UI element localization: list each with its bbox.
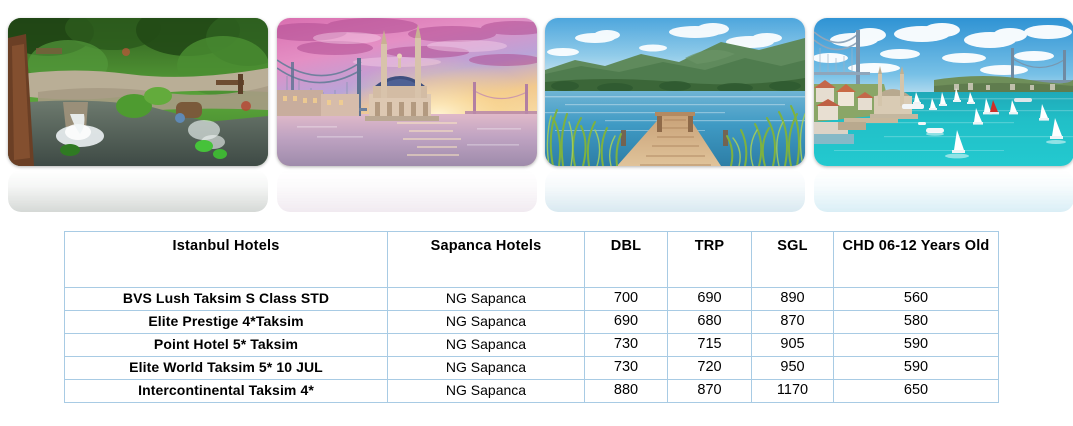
table-row: BVS Lush Taksim S Class STD NG Sapanca 7… bbox=[65, 288, 999, 311]
column-header-sapanca-hotels: Sapanca Hotels bbox=[388, 232, 585, 288]
column-header-chd: CHD 06-12 Years Old bbox=[834, 232, 999, 288]
photo-bosphorus-reflection bbox=[814, 170, 1073, 212]
column-header-sgl: SGL bbox=[752, 232, 834, 288]
photo-card-bosphorus-sailboats bbox=[814, 18, 1066, 200]
photo-sapanca-scene bbox=[545, 18, 805, 166]
cell-sapanca-hotel: NG Sapanca bbox=[388, 380, 585, 403]
cell-sapanca-hotel: NG Sapanca bbox=[388, 334, 585, 357]
cell-chd: 560 bbox=[834, 288, 999, 311]
cell-dbl: 690 bbox=[585, 311, 668, 334]
cell-sapanca-hotel: NG Sapanca bbox=[388, 311, 585, 334]
cell-sgl: 890 bbox=[752, 288, 834, 311]
cell-dbl: 880 bbox=[585, 380, 668, 403]
cell-istanbul-hotel: Elite World Taksim 5* 10 JUL bbox=[65, 357, 388, 380]
reflection-scene bbox=[8, 170, 268, 212]
hotel-rate-table: Istanbul Hotels Sapanca Hotels DBL TRP S… bbox=[64, 231, 999, 403]
reflection-scene bbox=[277, 170, 537, 212]
cell-chd: 650 bbox=[834, 380, 999, 403]
photo-ortakoy-reflection bbox=[277, 170, 537, 212]
photo-card-sapanca-lake-pier bbox=[545, 18, 797, 200]
photo-bosphorus-sailboats bbox=[814, 18, 1073, 166]
table-header-row: Istanbul Hotels Sapanca Hotels DBL TRP S… bbox=[65, 232, 999, 288]
destination-photo-strip bbox=[8, 18, 1065, 200]
column-header-dbl: DBL bbox=[585, 232, 668, 288]
table-row: Point Hotel 5* Taksim NG Sapanca 730 715… bbox=[65, 334, 999, 357]
photo-ortakoy-mosque-sunset bbox=[277, 18, 537, 166]
column-header-trp: TRP bbox=[668, 232, 752, 288]
table-row: Elite World Taksim 5* 10 JUL NG Sapanca … bbox=[65, 357, 999, 380]
column-header-istanbul-hotels: Istanbul Hotels bbox=[65, 232, 388, 288]
reflection-scene bbox=[545, 170, 805, 212]
table-header: Istanbul Hotels Sapanca Hotels DBL TRP S… bbox=[65, 232, 999, 288]
cell-dbl: 700 bbox=[585, 288, 668, 311]
cell-istanbul-hotel: Elite Prestige 4*Taksim bbox=[65, 311, 388, 334]
cell-chd: 590 bbox=[834, 357, 999, 380]
cell-istanbul-hotel: Intercontinental Taksim 4* bbox=[65, 380, 388, 403]
photo-sapanca-lake-pier bbox=[545, 18, 805, 166]
photo-sapanca-reflection bbox=[545, 170, 805, 212]
cell-istanbul-hotel: Point Hotel 5* Taksim bbox=[65, 334, 388, 357]
cell-sgl: 950 bbox=[752, 357, 834, 380]
cell-sapanca-hotel: NG Sapanca bbox=[388, 288, 585, 311]
cell-chd: 590 bbox=[834, 334, 999, 357]
cell-trp: 715 bbox=[668, 334, 752, 357]
cell-trp: 680 bbox=[668, 311, 752, 334]
cell-sgl: 1170 bbox=[752, 380, 834, 403]
reflection-scene bbox=[814, 170, 1073, 212]
table-row: Elite Prestige 4*Taksim NG Sapanca 690 6… bbox=[65, 311, 999, 334]
cell-sgl: 870 bbox=[752, 311, 834, 334]
cell-trp: 720 bbox=[668, 357, 752, 380]
photo-ortakoy-scene bbox=[277, 18, 537, 166]
photo-card-ortakoy-mosque-sunset bbox=[277, 18, 529, 200]
photo-forest-waterfall-scene bbox=[8, 18, 268, 166]
cell-dbl: 730 bbox=[585, 357, 668, 380]
cell-sgl: 905 bbox=[752, 334, 834, 357]
cell-istanbul-hotel: BVS Lush Taksim S Class STD bbox=[65, 288, 388, 311]
photo-bosphorus-scene bbox=[814, 18, 1073, 166]
table-body: BVS Lush Taksim S Class STD NG Sapanca 7… bbox=[65, 288, 999, 403]
cell-sapanca-hotel: NG Sapanca bbox=[388, 357, 585, 380]
cell-dbl: 730 bbox=[585, 334, 668, 357]
photo-forest-waterfall-reflection bbox=[8, 170, 268, 212]
cell-trp: 870 bbox=[668, 380, 752, 403]
cell-chd: 580 bbox=[834, 311, 999, 334]
photo-forest-waterfall bbox=[8, 18, 268, 166]
photo-card-forest-waterfall bbox=[8, 18, 260, 200]
cell-trp: 690 bbox=[668, 288, 752, 311]
table-row: Intercontinental Taksim 4* NG Sapanca 88… bbox=[65, 380, 999, 403]
